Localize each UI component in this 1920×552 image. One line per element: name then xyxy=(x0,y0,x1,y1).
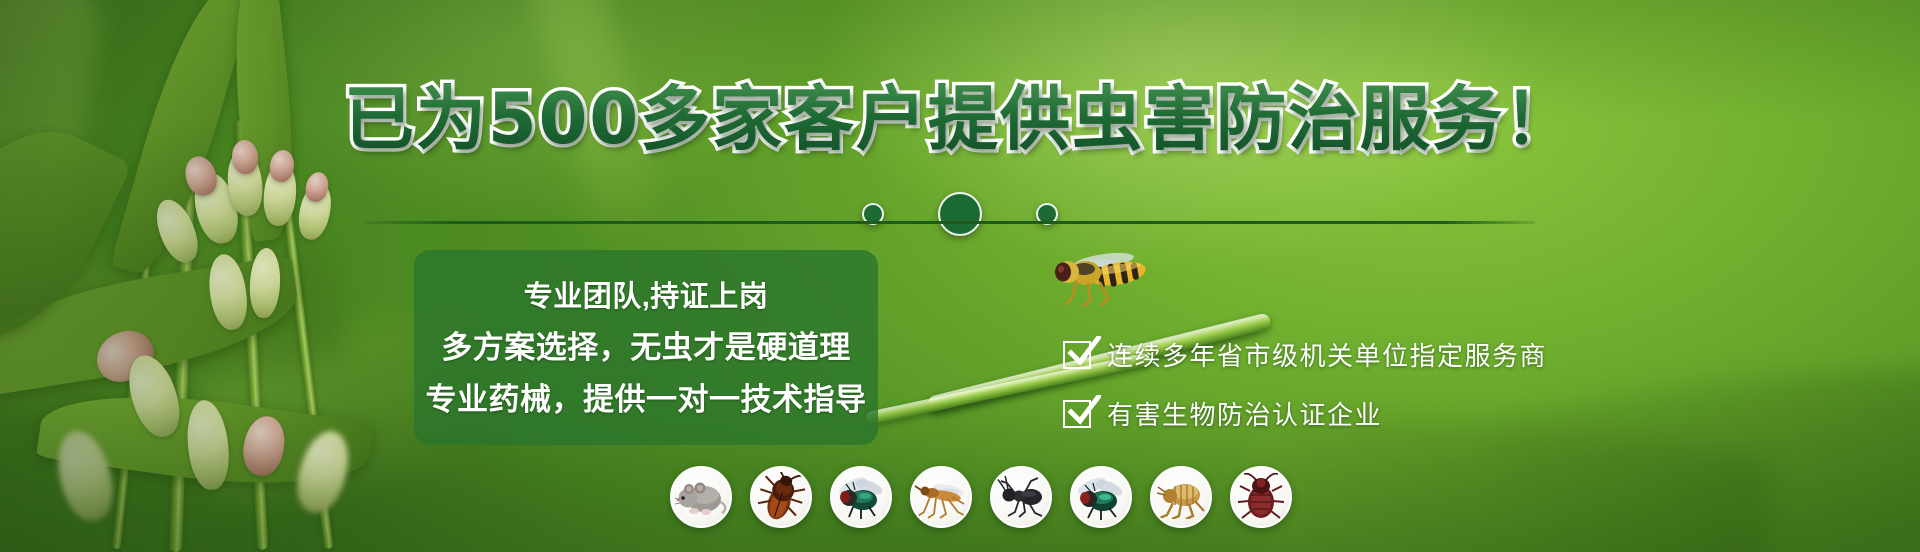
feature-line-3: 专业药械，提供一对一技术指导 xyxy=(424,374,868,419)
check-mark-icon xyxy=(1067,395,1101,425)
mouse-icon[interactable] xyxy=(670,466,732,528)
list-item: 有害生物防治认证企业 xyxy=(1063,395,1547,432)
pest-icon-strip xyxy=(670,466,1292,528)
pest-control-hero-banner: 已为500多家客户提供虫害防治服务！ 已为500多家客户提供虫害防治服务！ 专业… xyxy=(0,0,1920,552)
check-label-1: 连续多年省市级机关单位指定服务商 xyxy=(1107,336,1547,373)
checkbox-check-icon xyxy=(1063,400,1091,428)
bedbug-icon[interactable] xyxy=(1230,466,1292,528)
divider-rule xyxy=(365,221,1535,224)
check-mark-icon xyxy=(1067,336,1101,366)
ant-icon[interactable] xyxy=(990,466,1052,528)
dot-large-center xyxy=(938,192,982,236)
greenfly-icon[interactable] xyxy=(1070,466,1132,528)
check-label-2: 有害生物防治认证企业 xyxy=(1107,395,1382,432)
decorative-dots-row xyxy=(0,192,1920,236)
feature-line-1: 专业团队,持证上岗 xyxy=(424,273,868,315)
mosquito-icon[interactable] xyxy=(910,466,972,528)
certification-check-list: 连续多年省市级机关单位指定服务商 有害生物防治认证企业 xyxy=(1063,336,1547,432)
housefly-icon[interactable] xyxy=(830,466,892,528)
cockroach-icon[interactable] xyxy=(750,466,812,528)
list-item: 连续多年省市级机关单位指定服务商 xyxy=(1063,336,1547,373)
checkbox-check-icon xyxy=(1063,341,1091,369)
flea-icon[interactable] xyxy=(1150,466,1212,528)
feature-panel: 专业团队,持证上岗 多方案选择，无虫才是硬道理 专业药械，提供一对一技术指导 xyxy=(414,250,878,445)
feature-line-2: 多方案选择，无虫才是硬道理 xyxy=(424,322,868,367)
